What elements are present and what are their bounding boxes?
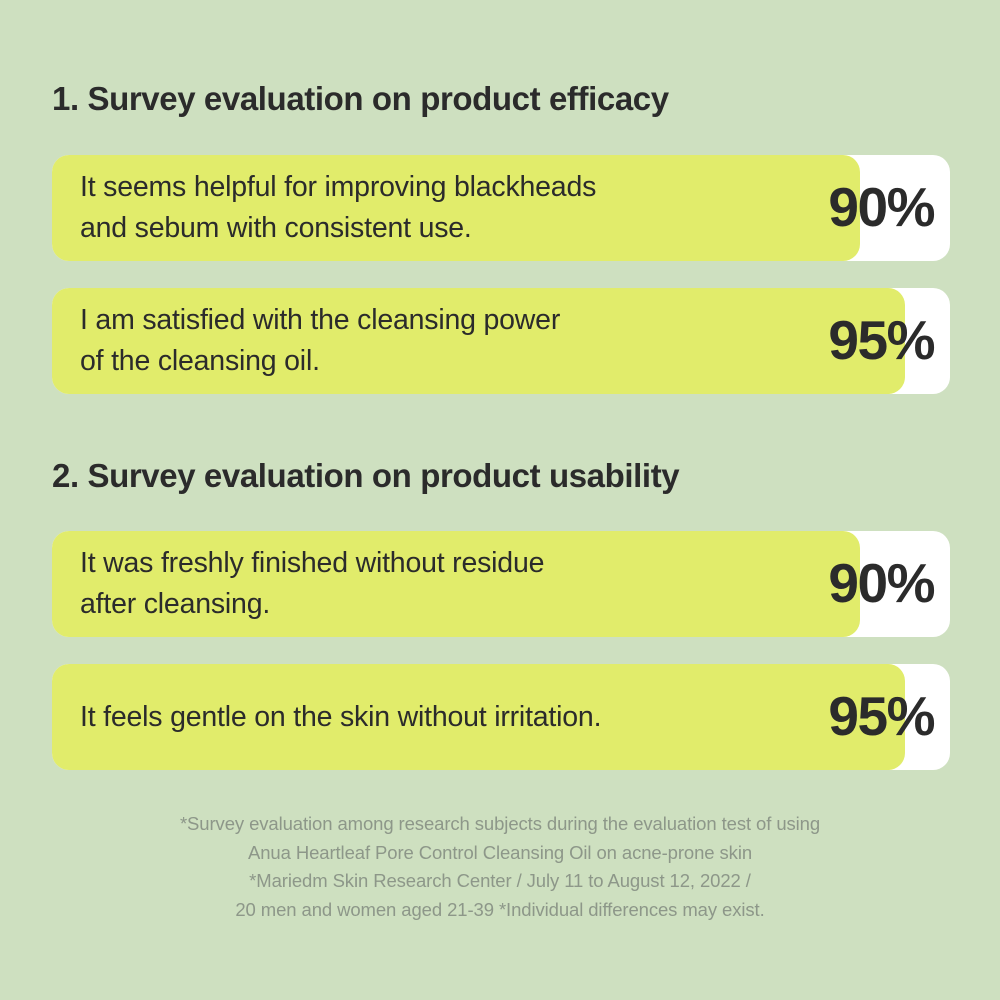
- footnote-line-2: Anua Heartleaf Pore Control Cleansing Oi…: [0, 839, 1000, 868]
- footnote: *Survey evaluation among research subjec…: [0, 810, 1000, 924]
- footnote-line-1: *Survey evaluation among research subjec…: [0, 810, 1000, 839]
- survey-statement-line-1: It seems helpful for improving blackhead…: [80, 171, 596, 203]
- footnote-line-4: 20 men and women aged 21-39 *Individual …: [0, 896, 1000, 925]
- survey-bar-track: It feels gentle on the skin without irri…: [52, 664, 950, 770]
- survey-bar-content: I am satisfied with the cleansing power …: [52, 288, 950, 394]
- survey-percent-value: 90%: [828, 180, 934, 237]
- infographic-page: 1. Survey evaluation on product efficacy…: [0, 0, 1000, 1000]
- survey-bar-track: I am satisfied with the cleansing power …: [52, 288, 950, 394]
- survey-statement-line-1: It feels gentle on the skin without irri…: [80, 701, 601, 733]
- survey-percent-value: 95%: [828, 689, 934, 746]
- survey-statement: It feels gentle on the skin without irri…: [80, 697, 828, 738]
- survey-percent-value: 90%: [828, 556, 934, 613]
- section-heading-efficacy: 1. Survey evaluation on product efficacy: [52, 80, 669, 118]
- survey-statement: It was freshly finished without residue …: [80, 543, 828, 625]
- survey-statement-line-2: after cleansing.: [80, 584, 828, 625]
- survey-statement-line-2: of the cleansing oil.: [80, 341, 828, 382]
- survey-statement: I am satisfied with the cleansing power …: [80, 300, 828, 382]
- survey-statement: It seems helpful for improving blackhead…: [80, 167, 828, 249]
- survey-bar-content: It seems helpful for improving blackhead…: [52, 155, 950, 261]
- survey-bar-track: It seems helpful for improving blackhead…: [52, 155, 950, 261]
- section-heading-usability: 2. Survey evaluation on product usabilit…: [52, 457, 679, 495]
- survey-statement-line-2: and sebum with consistent use.: [80, 208, 828, 249]
- survey-bar-content: It feels gentle on the skin without irri…: [52, 664, 950, 770]
- survey-percent-value: 95%: [828, 313, 934, 370]
- survey-statement-line-1: It was freshly finished without residue: [80, 547, 544, 579]
- survey-statement-line-1: I am satisfied with the cleansing power: [80, 304, 560, 336]
- survey-bar-content: It was freshly finished without residue …: [52, 531, 950, 637]
- survey-bar-track: It was freshly finished without residue …: [52, 531, 950, 637]
- footnote-line-3: *Mariedm Skin Research Center / July 11 …: [0, 867, 1000, 896]
